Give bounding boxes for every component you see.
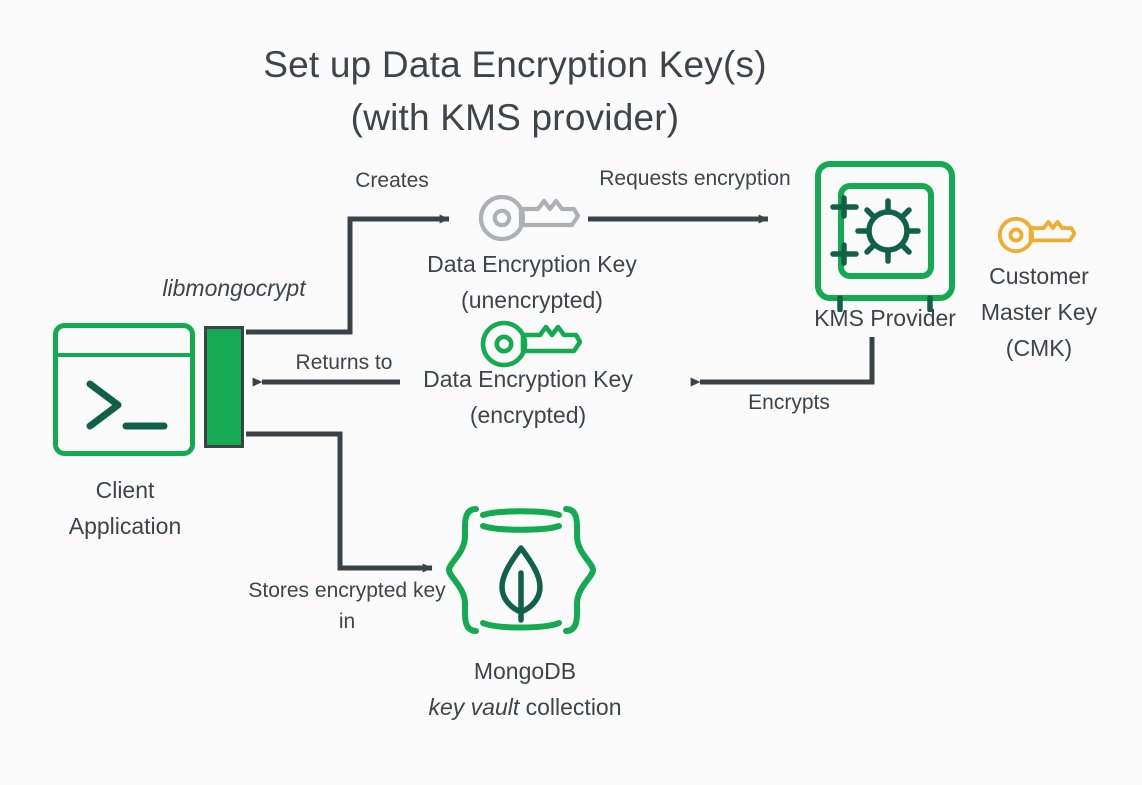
cmk-line-3: (CMK)	[946, 330, 1132, 366]
dek-unencrypted-line-1: Data Encryption Key	[370, 246, 694, 282]
label-stores-encrypted-key-in: Stores encrypted key in	[248, 575, 446, 637]
key-icon-yellow	[996, 214, 1076, 256]
mongodb-database-icon	[443, 498, 599, 650]
key-icon-gray	[476, 192, 580, 244]
libmongocrypt-label: libmongocrypt	[120, 270, 348, 306]
client-application-label-line-2: Application	[35, 508, 215, 544]
arrow-encrypts	[700, 337, 872, 382]
mongodb-label-line-2: key vault collection	[380, 689, 670, 725]
collection-text: collection	[519, 694, 621, 720]
dek-unencrypted-line-2: (unencrypted)	[370, 282, 694, 318]
dek-encrypted-line-2: (encrypted)	[366, 397, 690, 433]
customer-master-key-label: Customer Master Key (CMK)	[946, 258, 1132, 366]
mongodb-key-vault-label: MongoDB key vault collection	[380, 653, 670, 725]
arrow-stores-encrypted-key	[246, 434, 432, 568]
label-requests-encryption: Requests encryption	[560, 164, 830, 194]
libmongocrypt-bar	[204, 326, 244, 448]
client-application-label: Client Application	[35, 472, 215, 544]
label-creates: Creates	[312, 166, 472, 196]
dek-unencrypted-label: Data Encryption Key (unencrypted)	[370, 246, 694, 318]
label-returns-to: Returns to	[268, 348, 420, 378]
terminal-window-icon	[52, 322, 196, 457]
label-encrypts: Encrypts	[714, 388, 864, 418]
client-application-label-line-1: Client	[35, 472, 215, 508]
mongodb-label-line-1: MongoDB	[380, 653, 670, 689]
cmk-line-1: Customer	[946, 258, 1132, 294]
diagram-canvas: Set up Data Encryption Key(s) (with KMS …	[0, 0, 1142, 785]
key-vault-italic: key vault	[428, 694, 519, 720]
safe-vault-icon	[814, 160, 956, 312]
cmk-line-2: Master Key	[946, 294, 1132, 330]
